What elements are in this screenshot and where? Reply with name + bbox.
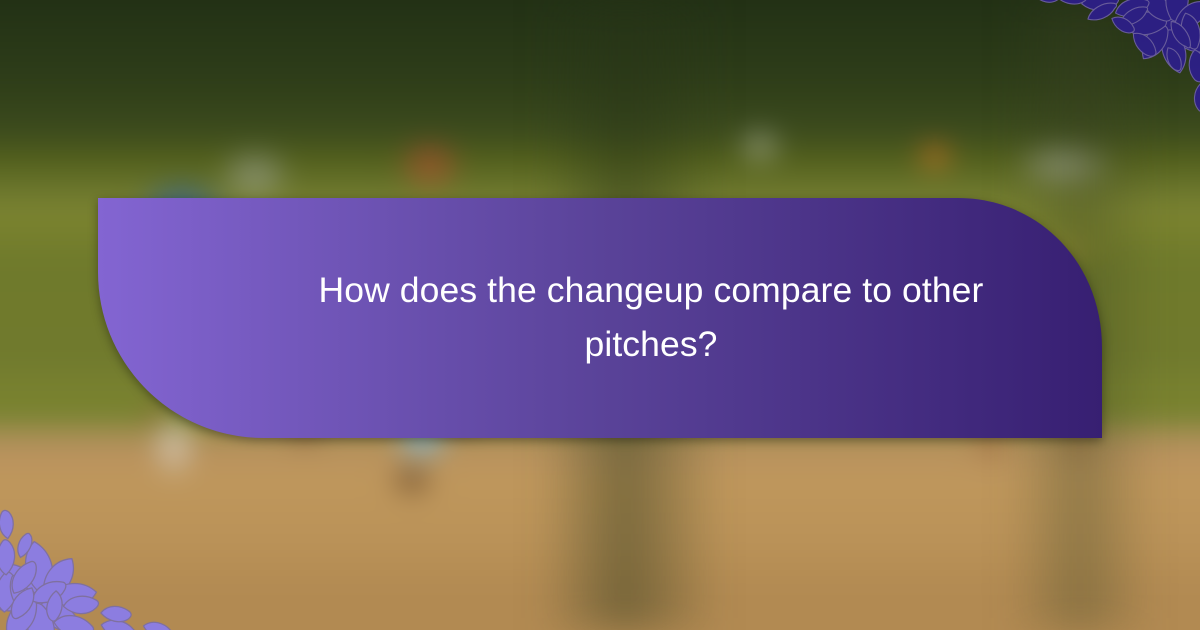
headline: How does the changeup compare to other p… — [256, 264, 1046, 372]
social-card: How does the changeup compare to other p… — [0, 0, 1200, 630]
headline-banner: How does the changeup compare to other p… — [98, 198, 1102, 438]
headline-text-container: How does the changeup compare to other p… — [246, 198, 1056, 438]
